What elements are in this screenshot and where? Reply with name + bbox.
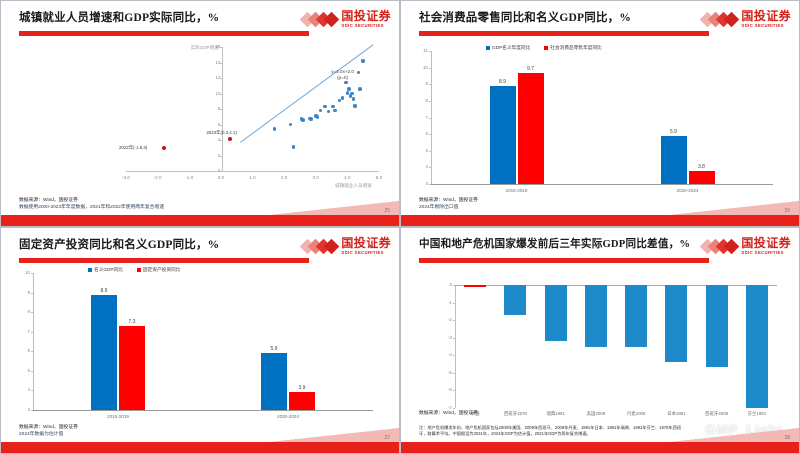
- y-axis-line: [222, 47, 223, 171]
- y-tick-mark: [453, 320, 455, 321]
- bar-chart: 0-1-2-3-4-5-6-7中国西班牙1978瑞典1991美国2008丹麦20…: [401, 228, 800, 454]
- category-label: 2020-2024: [258, 414, 318, 419]
- x-axis-line: [33, 410, 373, 411]
- y-tick-mark: [220, 78, 222, 79]
- y-axis-title: 实际GDP增速: [190, 45, 218, 51]
- y-tick-mark: [31, 293, 33, 294]
- y-tick-label: 5: [418, 148, 428, 153]
- y-tick-mark: [453, 338, 455, 339]
- x-tick-label: -3.0: [118, 175, 134, 180]
- y-tick-label: 5: [20, 368, 30, 373]
- y-tick-label: 8: [20, 309, 30, 314]
- y-tick-label: 4: [418, 164, 428, 169]
- grouped-bar-chart: 3456789108.97.32015-20195.93.92020-2024名…: [1, 228, 400, 454]
- category-label: 2015-2019: [88, 414, 148, 419]
- slide-fai-vs-gdp[interactable]: 固定资产投资同比和名义GDP同比，% 国投证券 SDIC SECURITIES …: [0, 227, 400, 454]
- legend-item-1: 固定资产投资同比: [137, 267, 181, 273]
- bar: [625, 285, 647, 347]
- y-tick-label: -6: [440, 387, 452, 392]
- grouped-bar-chart: 345678910118.99.72015-20195.93.82020-202…: [401, 1, 800, 227]
- y-tick-mark: [220, 140, 222, 141]
- y-tick-label: 6: [20, 348, 30, 353]
- point-annotation: 2022年(-1.8,3): [119, 145, 147, 151]
- page-number: 27: [384, 435, 390, 441]
- chart-legend: 名义GDP同比固定资产投资同比: [88, 267, 180, 273]
- data-point: [319, 109, 323, 113]
- bar-red: [518, 73, 544, 184]
- y-axis-line: [455, 285, 456, 408]
- y-tick-mark: [453, 285, 455, 286]
- bar: [504, 285, 526, 315]
- x-tick-label: 3.0: [308, 175, 324, 180]
- y-tick-mark: [31, 371, 33, 372]
- data-point: [353, 104, 357, 108]
- data-point: [289, 123, 293, 127]
- page-number: 28: [784, 435, 790, 441]
- bar-value-label: 5.9: [257, 346, 291, 352]
- page-number: 26: [784, 208, 790, 214]
- point-annotation: 2023年(0.3,4.1): [206, 130, 237, 136]
- legend-item-0: 名义GDP同比: [88, 267, 123, 273]
- bar-value-label: 7.3: [115, 319, 149, 325]
- chart-legend: GDP名义年度同比社会消费品零售年度同比: [486, 45, 602, 51]
- highlight-data-point: [228, 137, 232, 141]
- bar-blue: [261, 353, 287, 410]
- y-tick-mark: [429, 167, 431, 168]
- bar-red: [689, 171, 715, 184]
- y-tick-label: 14: [210, 60, 220, 65]
- y-tick-label: 4: [20, 387, 30, 392]
- legend-label: 社会消费品零售年度同比: [550, 45, 602, 51]
- data-point: [333, 109, 337, 113]
- y-tick-label: -1: [440, 300, 452, 305]
- footer-bar: [1, 442, 399, 453]
- legend-label: GDP名义年度同比: [492, 45, 530, 51]
- y-tick-mark: [429, 51, 431, 52]
- y-tick-mark: [429, 184, 431, 185]
- legend-label: 名义GDP同比: [94, 267, 123, 273]
- legend-swatch: [544, 46, 548, 50]
- x-tick-label: -2.0: [150, 175, 166, 180]
- x-tick-label: 1.0: [245, 175, 261, 180]
- x-axis-title: 城镇就业人员增速: [335, 183, 372, 189]
- zero-line: [455, 285, 777, 286]
- y-tick-label: 6: [210, 122, 220, 127]
- data-point: [309, 117, 313, 121]
- bar-value-label: 5.9: [657, 129, 691, 135]
- y-tick-mark: [429, 151, 431, 152]
- y-axis-line: [33, 273, 34, 410]
- data-point: [341, 96, 345, 100]
- footer-wedge: [269, 428, 399, 442]
- legend-label: 固定资产投资同比: [143, 267, 181, 273]
- legend-item-1: 社会消费品零售年度同比: [544, 45, 602, 51]
- data-point: [352, 97, 356, 101]
- footer-bar: [401, 442, 799, 453]
- data-point: [316, 115, 320, 119]
- bar-value-label: 9.7: [514, 66, 548, 72]
- y-tick-mark: [31, 273, 33, 274]
- bar-blue: [661, 136, 687, 184]
- category-label: 2020-2024: [658, 188, 718, 193]
- bar-value-label: 3.9: [285, 385, 319, 391]
- source-note: 2024年剔除出口值: [419, 204, 458, 211]
- legend-item-0: GDP名义年度同比: [486, 45, 530, 51]
- category-label: 2015-2019: [487, 188, 547, 193]
- y-tick-mark: [31, 410, 33, 411]
- scatter-chart: 0246810121416-3.0-2.0-1.00.01.02.03.04.0…: [1, 1, 400, 227]
- y-tick-mark: [31, 312, 33, 313]
- y-tick-label: 3: [20, 407, 30, 412]
- bar-value-label: 3.8: [685, 164, 719, 170]
- y-tick-label: 0: [210, 168, 220, 173]
- y-axis-line: [431, 51, 432, 184]
- data-point: [344, 81, 348, 85]
- category-label: 芬兰1991: [727, 411, 787, 417]
- y-tick-label: 8: [210, 106, 220, 111]
- y-tick-label: 7: [20, 329, 30, 334]
- source-note: 2024年数据为估计值: [19, 431, 63, 438]
- y-tick-mark: [453, 408, 455, 409]
- x-tick-label: 5.0: [371, 175, 387, 180]
- data-point: [350, 92, 354, 96]
- y-tick-label: 11: [418, 48, 428, 53]
- data-point: [292, 145, 296, 149]
- data-point: [327, 110, 331, 114]
- page-number: 25: [384, 208, 390, 214]
- bar: [545, 285, 567, 341]
- footer-wedge: [669, 428, 799, 442]
- bar: [706, 285, 728, 367]
- source-line: 数据来源：Wind，国投证券: [419, 410, 478, 417]
- y-tick-mark: [31, 351, 33, 352]
- y-tick-label: 0: [440, 282, 452, 287]
- x-tick-label: 0.0: [213, 175, 229, 180]
- y-tick-label: 9: [418, 81, 428, 86]
- data-point: [273, 127, 277, 131]
- footnote-line-2: 牙，取算术平均。中国假设为2021年，2024年GDP为估计值，2021年GDP…: [419, 431, 591, 437]
- y-tick-label: 10: [210, 91, 220, 96]
- data-point: [358, 87, 362, 91]
- source-note: 数据使用2000-2023年年度数据，2021年和2022年使用两年复合增速: [19, 204, 164, 211]
- legend-swatch: [486, 46, 490, 50]
- slide-retail-vs-gdp[interactable]: 社会消费品零售同比和名义GDP同比，% 国投证券 SDIC SECURITIES…: [400, 0, 800, 227]
- y-tick-mark: [220, 125, 222, 126]
- legend-swatch: [88, 268, 92, 272]
- slide-deck-grid: 城镇就业人员增速和GDP实际同比，% 国投证券 SDIC SECURITIES …: [0, 0, 800, 454]
- highlight-data-point: [162, 146, 166, 150]
- bar: [665, 285, 687, 362]
- x-axis-line: [431, 184, 773, 185]
- bar-red: [289, 392, 315, 410]
- slide-urban-employment[interactable]: 城镇就业人员增速和GDP实际同比，% 国投证券 SDIC SECURITIES …: [0, 0, 400, 227]
- y-tick-mark: [429, 101, 431, 102]
- y-tick-mark: [220, 63, 222, 64]
- footer-bar: [1, 215, 399, 226]
- footer-wedge: [269, 201, 399, 215]
- data-point: [323, 105, 327, 109]
- data-point: [361, 59, 365, 63]
- slide-property-crisis[interactable]: 中国和地产危机国家爆发前后三年实际GDP同比差值，% 国投证券 SDIC SEC…: [400, 227, 800, 454]
- y-tick-mark: [220, 156, 222, 157]
- y-tick-mark: [220, 171, 222, 172]
- x-tick-label: -1.0: [181, 175, 197, 180]
- source-line: 数据来源：Wind，国投证券: [419, 197, 478, 204]
- bar-blue: [91, 295, 117, 410]
- y-tick-label: 4: [210, 137, 220, 142]
- y-tick-label: 8: [418, 98, 428, 103]
- bar-value-label: 8.9: [87, 288, 121, 294]
- y-tick-label: 3: [418, 181, 428, 186]
- y-tick-label: 9: [20, 290, 30, 295]
- y-tick-label: -3: [440, 335, 452, 340]
- y-tick-mark: [453, 303, 455, 304]
- x-tick-label: 4.0: [339, 175, 355, 180]
- y-tick-mark: [429, 134, 431, 135]
- x-tick-label: 2.0: [276, 175, 292, 180]
- footer-bar: [401, 215, 799, 226]
- bar-value-label: 8.9: [486, 79, 520, 85]
- y-tick-mark: [453, 373, 455, 374]
- y-tick-label: 10: [20, 270, 30, 275]
- bar: [464, 285, 486, 287]
- y-tick-label: 7: [418, 115, 428, 120]
- y-tick-label: -5: [440, 370, 452, 375]
- y-tick-label: -4: [440, 352, 452, 357]
- bar: [585, 285, 607, 347]
- footer-wedge: [669, 201, 799, 215]
- y-tick-mark: [453, 390, 455, 391]
- source-line: 数据来源：Wind，国投证券: [19, 424, 78, 431]
- y-tick-mark: [220, 47, 222, 48]
- y-tick-mark: [453, 355, 455, 356]
- y-tick-label: 2: [210, 153, 220, 158]
- bar: [746, 285, 768, 408]
- y-tick-mark: [429, 68, 431, 69]
- data-point: [347, 87, 351, 91]
- bar-blue: [490, 86, 516, 184]
- data-point: [331, 105, 335, 109]
- y-tick-mark: [31, 332, 33, 333]
- x-axis-line: [126, 171, 379, 172]
- y-tick-mark: [220, 94, 222, 95]
- regression-annotation: y=3.0x+2.0: [313, 69, 373, 75]
- legend-swatch: [137, 268, 141, 272]
- regression-pvalue: (p=0): [313, 75, 373, 81]
- source-line: 数据来源：Wind，国投证券: [19, 197, 78, 204]
- y-tick-mark: [31, 390, 33, 391]
- y-tick-label: 6: [418, 131, 428, 136]
- y-tick-label: 12: [210, 75, 220, 80]
- y-tick-mark: [429, 84, 431, 85]
- y-tick-label: 10: [418, 65, 428, 70]
- y-tick-mark: [429, 118, 431, 119]
- y-tick-label: -2: [440, 317, 452, 322]
- data-point: [301, 118, 305, 122]
- y-tick-mark: [220, 109, 222, 110]
- bar-red: [119, 326, 145, 410]
